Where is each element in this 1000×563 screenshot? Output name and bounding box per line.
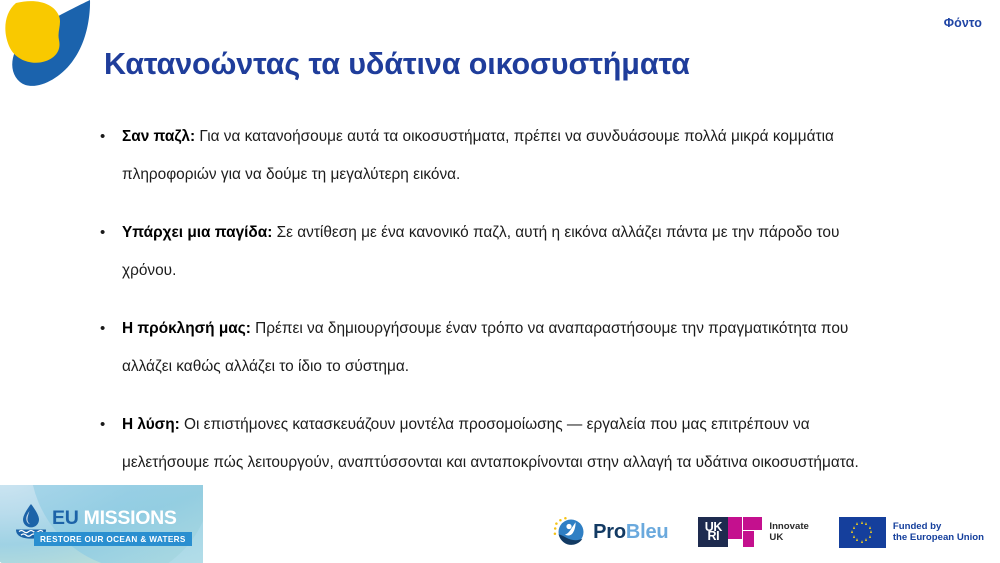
ukri-letters: UK RI — [705, 523, 722, 542]
innovate-uk-label-line1: Innovate — [769, 521, 808, 533]
eu-flag-icon — [839, 517, 886, 548]
eu-missions-tagline: RESTORE OUR OCEAN & WATERS — [34, 532, 192, 546]
list-item-text: Οι επιστήμονες κατασκευάζουν μοντέλα προ… — [122, 416, 859, 471]
bullet-marker-icon: • — [100, 310, 105, 348]
list-item-lead: Υπάρχει μια παγίδα: — [122, 224, 272, 241]
innovate-uk-logo: UK RI Innovate UK — [698, 517, 808, 547]
eu-star-icon — [856, 522, 858, 525]
slide-canvas: Κατανοώντας τα υδάτινα οικοσυστήματα Φόν… — [0, 0, 1000, 563]
bullet-list: • Σαν παζλ: Για να κατανοήσουμε αυτά τα … — [95, 118, 885, 482]
innovate-uk-label-line2: UK — [769, 532, 808, 544]
list-item: • Η λύση: Οι επιστήμονες κατασκευάζουν μ… — [95, 406, 885, 482]
eu-star-icon — [870, 530, 872, 533]
eu-star-icon — [865, 538, 867, 541]
list-item-lead: Η πρόκλησή μας: — [122, 320, 251, 337]
eu-funding-label-line2: the European Union — [893, 532, 984, 544]
corner-note-label: Φόντο — [944, 16, 982, 30]
bullet-marker-icon: • — [100, 406, 105, 444]
bullet-marker-icon: • — [100, 214, 105, 252]
eu-missions-wordmark: EU MISSIONS — [52, 507, 177, 530]
list-item: • Υπάρχει μια παγίδα: Σε αντίθεση με ένα… — [95, 214, 885, 290]
brand-logo — [2, 0, 102, 102]
ukri-block-a — [728, 517, 742, 539]
eu-missions-word-missions: MISSIONS — [84, 507, 177, 529]
probleu-word-bleu: Bleu — [626, 521, 669, 543]
eu-missions-banner: EU MISSIONS RESTORE OUR OCEAN & WATERS — [0, 485, 203, 563]
probleu-word-pro: Pro — [593, 521, 626, 543]
probleu-logo: ProBleu — [552, 515, 668, 549]
eu-star-icon — [865, 522, 867, 525]
ukri-block-c — [743, 531, 754, 547]
eu-star-icon — [856, 538, 858, 541]
funder-logo-strip: ProBleu UK RI Innovate UK — [552, 515, 984, 549]
eu-star-icon — [861, 521, 863, 524]
ukri-block-b — [743, 517, 762, 530]
ukri-color-blocks — [728, 517, 762, 547]
list-item-lead: Σαν παζλ: — [122, 128, 195, 145]
eu-star-icon — [869, 526, 871, 529]
leaf-drop-logo-icon — [2, 0, 102, 102]
eu-star-icon — [853, 526, 855, 529]
list-item-text: Για να κατανοήσουμε αυτά τα οικοσυστήματ… — [122, 128, 834, 183]
probleu-wordmark: ProBleu — [593, 521, 668, 544]
eu-funding-logo: Funded by the European Union — [839, 517, 984, 548]
eu-missions-word-eu: EU — [52, 507, 79, 529]
eu-star-icon — [861, 540, 863, 543]
eu-funding-label: Funded by the European Union — [893, 521, 984, 544]
list-item-lead: Η λύση: — [122, 416, 180, 433]
probleu-swirl-stars-icon — [552, 515, 586, 549]
list-item: • Η πρόκλησή μας: Πρέπει να δημιουργήσου… — [95, 310, 885, 386]
list-item: • Σαν παζλ: Για να κατανοήσουμε αυτά τα … — [95, 118, 885, 194]
innovate-uk-label: Innovate UK — [769, 521, 808, 544]
eu-funding-label-line1: Funded by — [893, 521, 984, 533]
eu-star-icon — [853, 535, 855, 538]
eu-star-icon — [869, 535, 871, 538]
ukri-mark: UK RI — [698, 517, 762, 547]
ukri-letter-block: UK RI — [698, 517, 728, 547]
eu-star-icon — [851, 530, 853, 533]
page-title: Κατανοώντας τα υδάτινα οικοσυστήματα — [104, 48, 864, 82]
bullet-marker-icon: • — [100, 118, 105, 156]
